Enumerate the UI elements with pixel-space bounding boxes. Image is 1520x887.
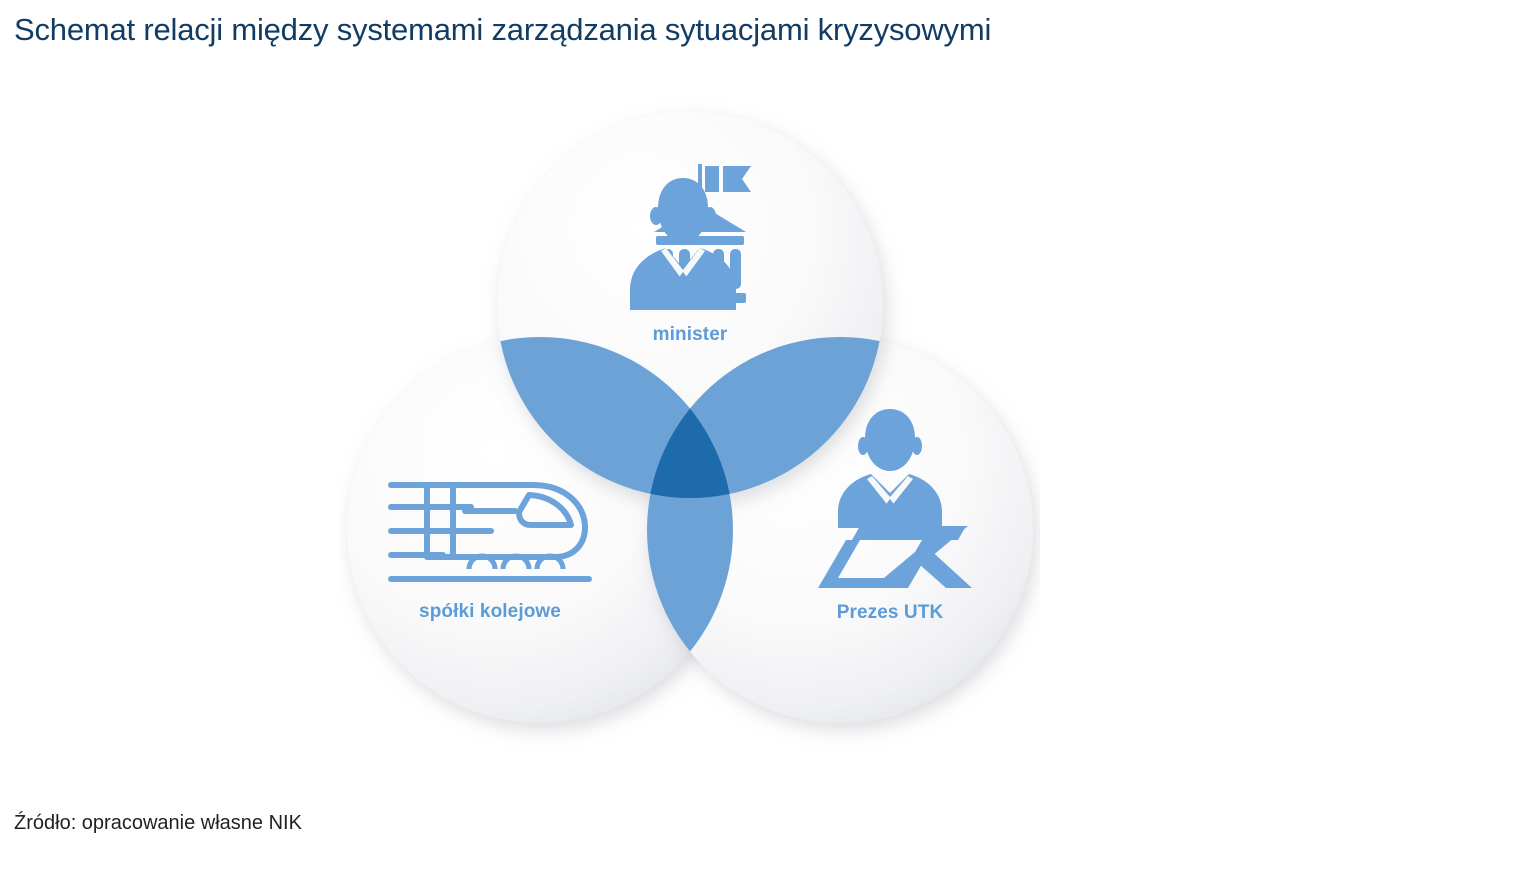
venn-group-label-prezes-utk: Prezes UTK xyxy=(760,602,1020,624)
venn-group-label-spolki-kolejowe: spółki kolejowe xyxy=(360,601,620,623)
venn-group-prezes-utk[interactable]: Prezes UTK xyxy=(760,400,1020,624)
source-note: Źródło: opracowanie własne NIK xyxy=(14,812,302,835)
train-icon xyxy=(383,465,598,595)
minister-government-icon xyxy=(610,150,770,320)
venn-group-minister[interactable]: minister xyxy=(560,150,820,346)
page-title: Schemat relacji między systemami zarządz… xyxy=(14,12,991,48)
venn-group-spolki-kolejowe[interactable]: spółki kolejowe xyxy=(360,465,620,623)
person-icon xyxy=(838,409,942,534)
utk-wordmark xyxy=(818,526,972,588)
utk-logo-icon xyxy=(790,400,990,600)
venn-group-label-minister: minister xyxy=(560,324,820,346)
venn-diagram: minister xyxy=(340,95,1040,755)
